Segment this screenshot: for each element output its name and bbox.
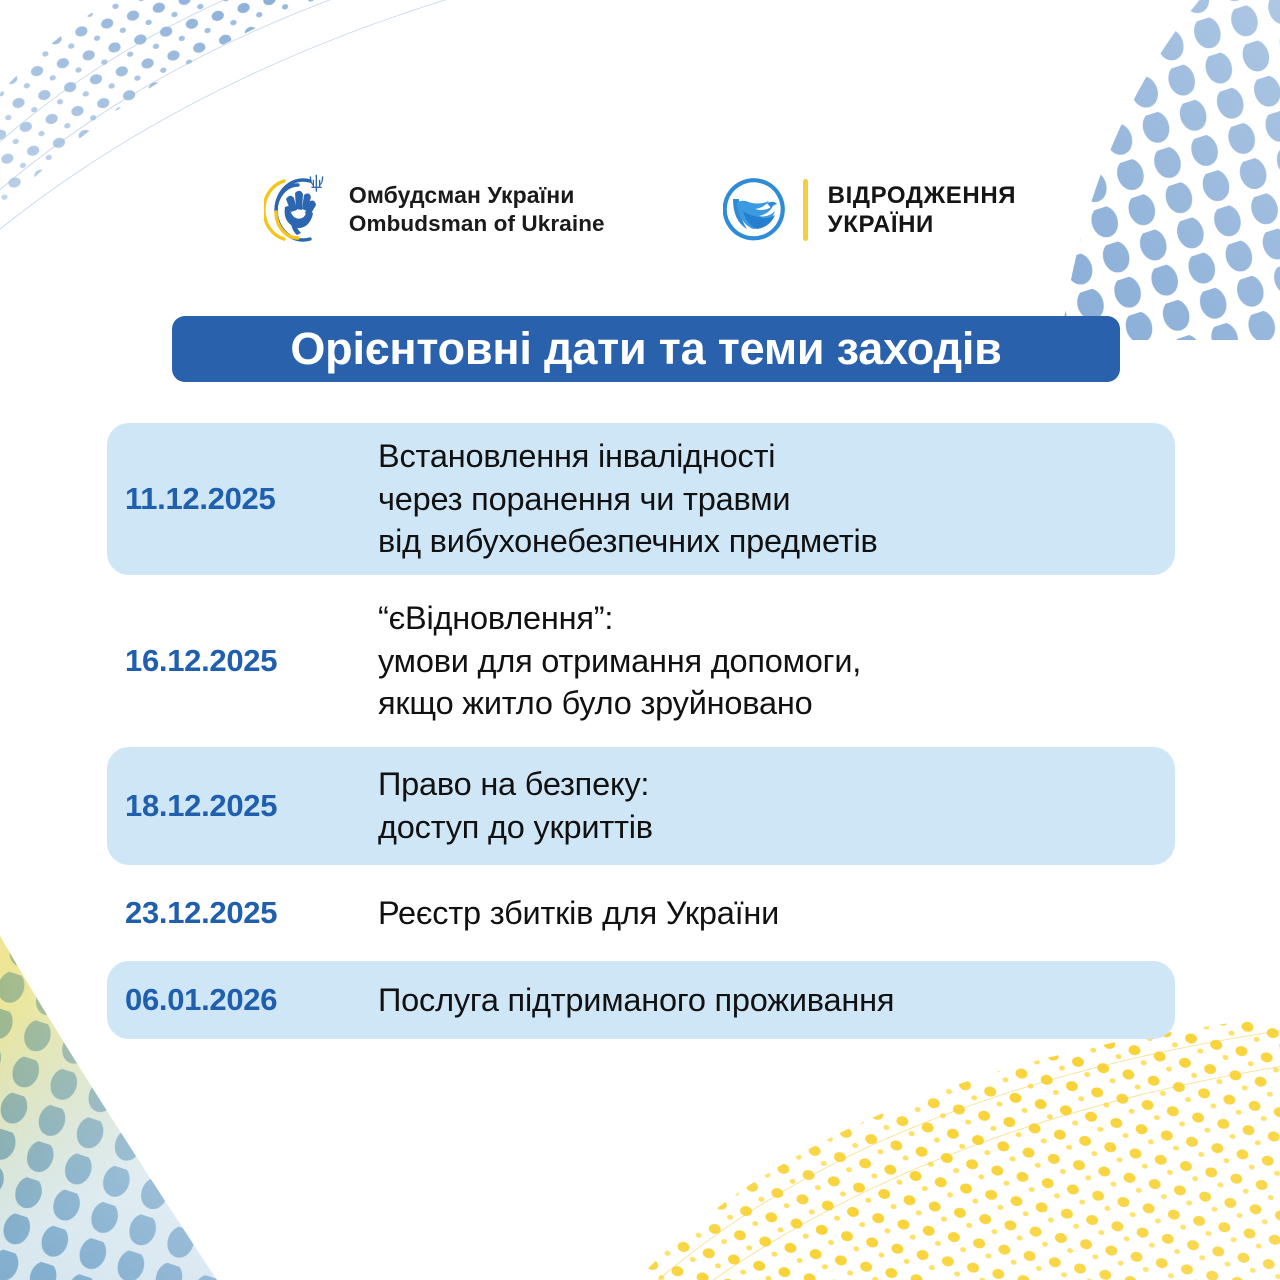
ombudsman-logo-text: Омбудсман України Ombudsman of Ukraine	[349, 181, 605, 239]
schedule-row-topic: “єВідновлення”: умови для отримання допо…	[378, 597, 1175, 726]
page-title-banner: Орієнтовні дати та теми заходів	[172, 316, 1120, 382]
schedule-row-date: 16.12.2025	[125, 643, 378, 679]
vidrodzhennya-logo-line2: УКРАЇНИ	[828, 210, 1016, 239]
schedule-row[interactable]: 23.12.2025 Реєстр збитків для України	[107, 865, 1175, 961]
ombudsman-logo-line1: Омбудсман України	[349, 181, 605, 210]
schedule-row-date: 18.12.2025	[125, 788, 378, 824]
vidrodzhennya-logo-text: ВІДРОДЖЕННЯ УКРАЇНИ	[828, 181, 1016, 240]
vidrodzhennya-logo-line1: ВІДРОДЖЕННЯ	[828, 181, 1016, 210]
header-logo-row: Омбудсман України Ombudsman of Ukraine В…	[0, 160, 1280, 260]
phoenix-bird-circle-icon	[723, 177, 789, 243]
schedule-row[interactable]: 16.12.2025 “єВідновлення”: умови для отр…	[107, 575, 1175, 747]
schedule-row-topic: Встановлення інвалідності через пораненн…	[378, 435, 1175, 564]
schedule-row-topic: Послуга підтриманого проживання	[378, 979, 1175, 1022]
ombudsman-dove-emblem-icon	[264, 171, 336, 249]
poster-canvas: Омбудсман України Ombudsman of Ukraine В…	[0, 0, 1280, 1280]
schedule-row-date: 06.01.2026	[125, 982, 378, 1018]
schedule-row[interactable]: 11.12.2025 Встановлення інвалідності чер…	[107, 423, 1175, 575]
schedule-list: 11.12.2025 Встановлення інвалідності чер…	[107, 423, 1175, 1039]
schedule-row-topic: Реєстр збитків для України	[378, 892, 1175, 935]
schedule-row-date: 23.12.2025	[125, 895, 378, 931]
schedule-row[interactable]: 06.01.2026 Послуга підтриманого проживан…	[107, 961, 1175, 1039]
ombudsman-logo: Омбудсман України Ombudsman of Ukraine	[264, 171, 605, 249]
schedule-row[interactable]: 18.12.2025 Право на безпеку: доступ до у…	[107, 747, 1175, 865]
logo-divider	[803, 179, 808, 241]
schedule-row-date: 11.12.2025	[125, 481, 378, 517]
vidrodzhennya-logo: ВІДРОДЖЕННЯ УКРАЇНИ	[723, 177, 1016, 243]
page-title: Орієнтовні дати та теми заходів	[290, 323, 1001, 375]
schedule-row-topic: Право на безпеку: доступ до укриттів	[378, 763, 1175, 849]
ombudsman-logo-line2: Ombudsman of Ukraine	[349, 210, 605, 239]
